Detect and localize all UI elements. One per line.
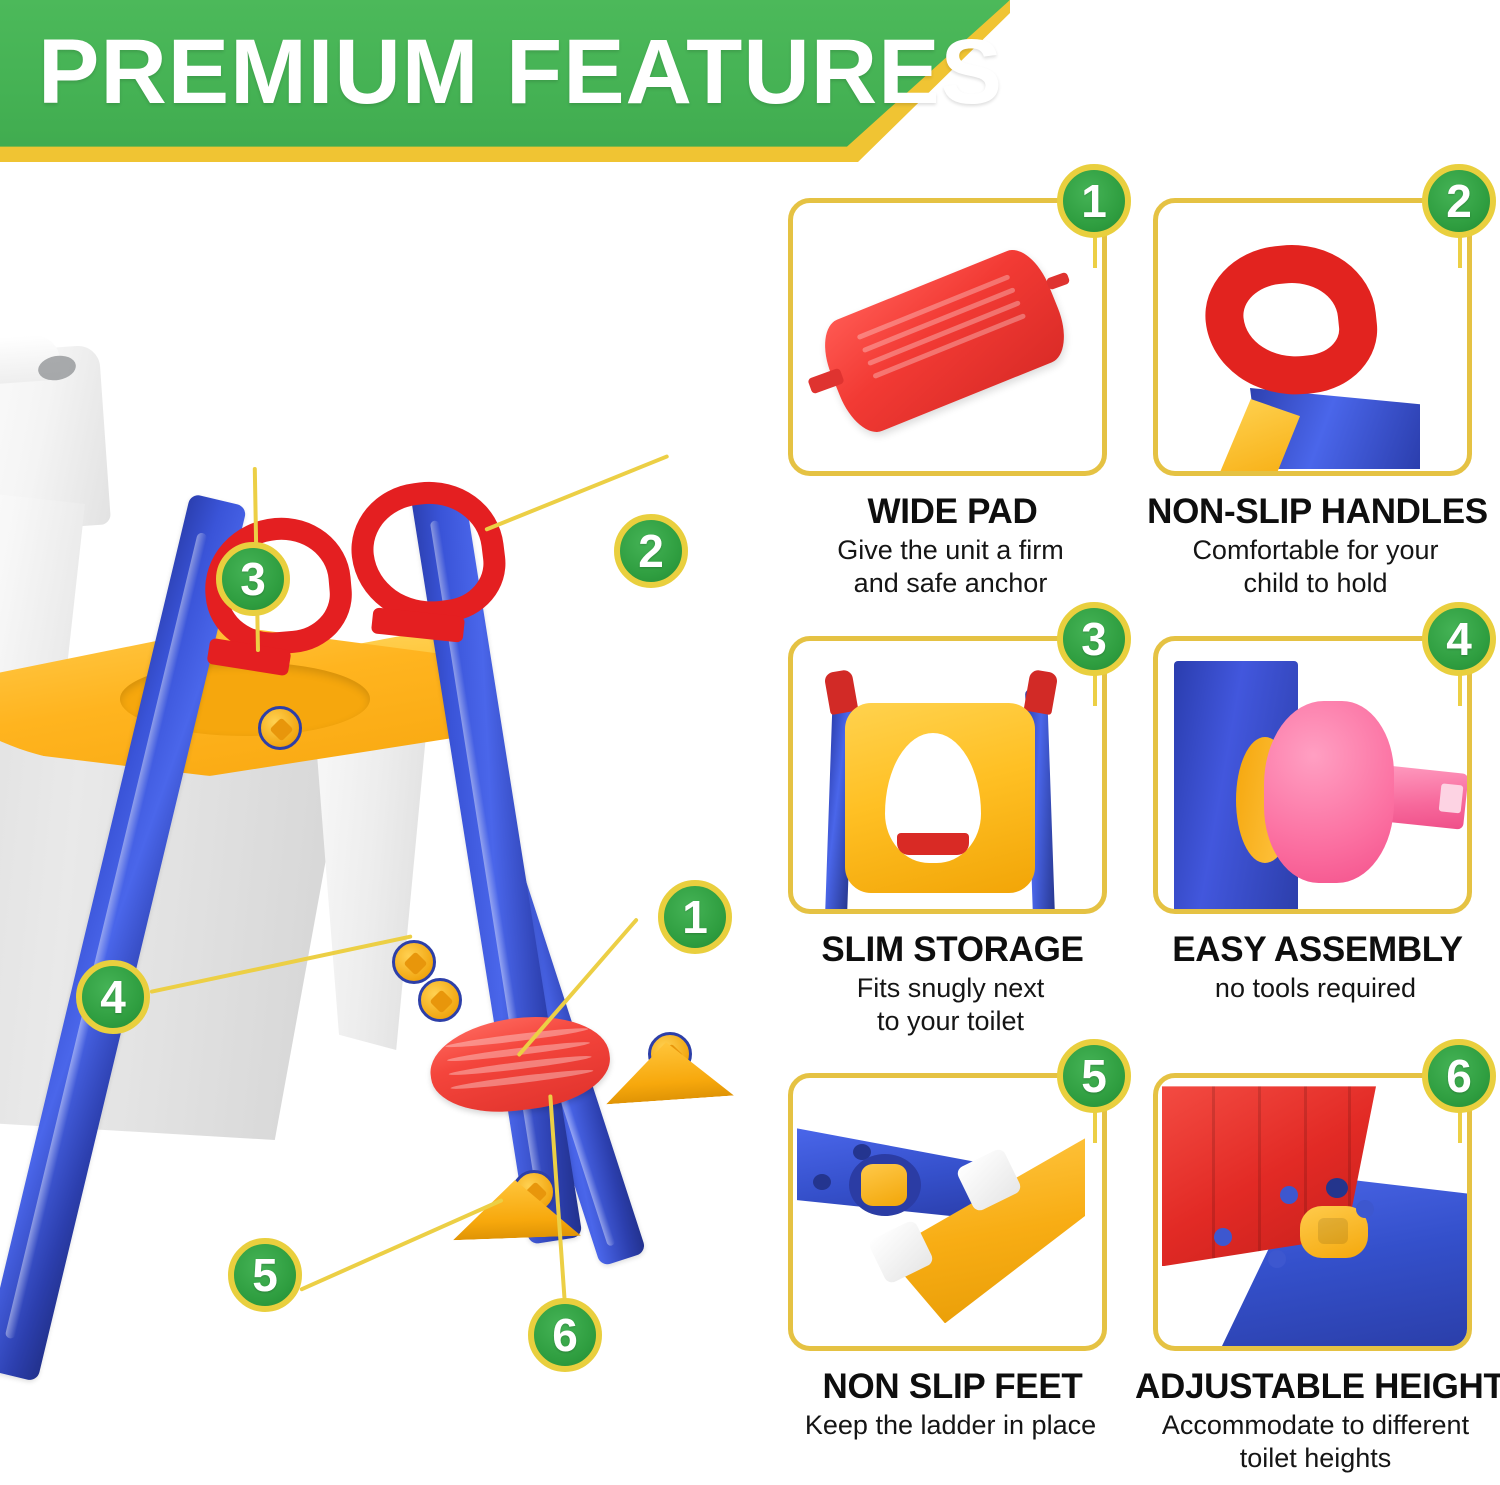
feature-title: SLIM STORAGE <box>770 930 1135 970</box>
art-wedge-foot <box>793 1078 1102 1346</box>
art-base-knob <box>1158 1078 1467 1346</box>
feature-title: NON-SLIP HANDLES <box>1135 492 1500 532</box>
feature-number-badge[interactable]: 5 <box>1057 1039 1131 1113</box>
callout-badge-1[interactable]: 1 <box>658 880 732 954</box>
callout-badge-2[interactable]: 2 <box>614 514 688 588</box>
feature-number-badge[interactable]: 2 <box>1422 164 1496 238</box>
adjust-knob <box>849 1154 921 1216</box>
red-step-edge <box>897 833 969 855</box>
callout-badge-6[interactable]: 6 <box>528 1298 602 1372</box>
adjust-knob-mid-left-2 <box>418 978 462 1022</box>
feature-number-badge[interactable]: 3 <box>1057 602 1131 676</box>
feature-number-badge[interactable]: 6 <box>1422 1039 1496 1113</box>
feature-grid: 1 WIDE PAD Give the unit a firmand safe … <box>770 172 1500 1485</box>
feature-number-badge[interactable]: 1 <box>1057 164 1131 238</box>
feature-caption: Fits snugly nextto your toilet <box>776 972 1125 1038</box>
feature-caption: Accommodate to differenttoilet heights <box>1141 1409 1490 1475</box>
feature-caption: Comfortable for yourchild to hold <box>1141 534 1490 600</box>
handle-loop-right <box>344 473 512 632</box>
feature-caption: no tools required <box>1141 972 1490 1005</box>
hero-product-photo: 3 2 1 4 5 6 <box>0 170 770 1485</box>
feature-title: EASY ASSEMBLY <box>1135 930 1500 970</box>
feature-card-wide-pad[interactable]: 1 WIDE PAD Give the unit a firmand safe … <box>770 172 1135 610</box>
non-slip-foot-right <box>602 1038 734 1105</box>
feature-title: WIDE PAD <box>770 492 1135 532</box>
feature-card-non-slip-handles[interactable]: 2 NON-SLIP HANDLES Comfortable for yourc… <box>1135 172 1500 610</box>
art-wide-pad <box>793 203 1102 471</box>
feature-number-badge[interactable]: 4 <box>1422 602 1496 676</box>
art-folded-seat <box>793 641 1102 909</box>
feature-card-adjustable-height[interactable]: 6 ADJUSTABLE HEIGHT Accommodate to diffe… <box>1135 1047 1500 1485</box>
feature-image-frame <box>788 198 1107 476</box>
feature-caption: Keep the ladder in place <box>776 1409 1125 1442</box>
feature-image-frame <box>788 1073 1107 1351</box>
callout-badge-5[interactable]: 5 <box>228 1238 302 1312</box>
pink-knob <box>1264 701 1394 883</box>
callout-badge-3[interactable]: 3 <box>216 542 290 616</box>
feature-image-frame <box>788 636 1107 914</box>
art-handle <box>1158 203 1467 471</box>
red-tip-left <box>824 669 859 715</box>
feature-card-non-slip-feet[interactable]: 5 NON SLIP FEET Keep the ladder in place <box>770 1047 1135 1485</box>
page-title: PREMIUM FEATURES <box>38 18 1003 126</box>
adjust-knob-mid-left <box>392 940 436 984</box>
feature-image-frame <box>1153 1073 1472 1351</box>
red-pad <box>813 241 1076 440</box>
red-handle-loop <box>1199 237 1384 404</box>
callout-badge-4[interactable]: 4 <box>76 960 150 1034</box>
art-thumb-knob <box>1158 641 1467 909</box>
feature-title: NON SLIP FEET <box>770 1367 1135 1407</box>
leader-line-5 <box>299 1198 503 1292</box>
feature-caption: Give the unit a firmand safe anchor <box>776 534 1125 600</box>
red-tip-right <box>1024 669 1059 715</box>
premium-features-infographic: PREMIUM FEATURES <box>0 0 1500 1485</box>
feature-image-frame <box>1153 636 1472 914</box>
adjust-knob-upper-left <box>258 706 302 750</box>
header-banner: PREMIUM FEATURES <box>0 0 1010 162</box>
feature-card-slim-storage[interactable]: 3 SLIM STORAGE Fits snugly nextto your t… <box>770 610 1135 1048</box>
feature-title: ADJUSTABLE HEIGHT <box>1135 1367 1500 1407</box>
feature-card-easy-assembly[interactable]: 4 EASY ASSEMBLY no tools required <box>1135 610 1500 1048</box>
pad-peg-right <box>1046 272 1071 291</box>
feature-image-frame <box>1153 198 1472 476</box>
